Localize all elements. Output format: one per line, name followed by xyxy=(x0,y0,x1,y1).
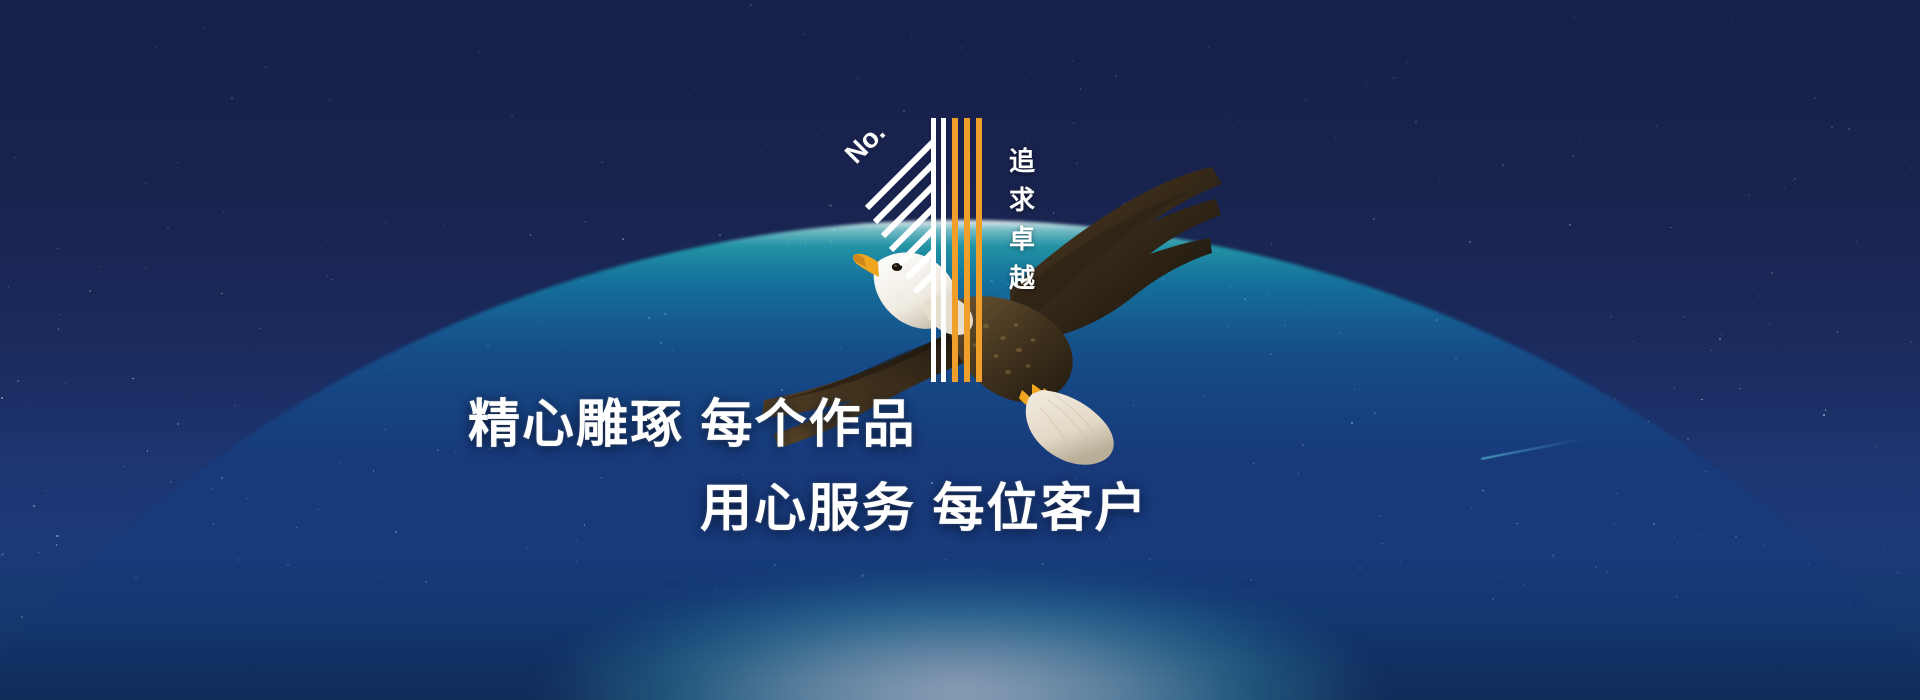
slogan-char-4: 越 xyxy=(1009,265,1035,291)
hero-banner: No. 追 求 卓 越 xyxy=(0,0,1920,700)
vertical-slogan: 追 求 卓 越 xyxy=(1000,148,1044,291)
slogan-char-2: 求 xyxy=(1009,187,1035,213)
headline-line-1: 精心雕琢 每个作品 xyxy=(468,382,916,457)
slogan-char-1: 追 xyxy=(1009,148,1035,174)
slogan-char-3: 卓 xyxy=(1009,226,1035,252)
headline-line-2: 用心服务 每位客户 xyxy=(700,466,1148,541)
no-one-emblem: No. xyxy=(845,112,1025,382)
